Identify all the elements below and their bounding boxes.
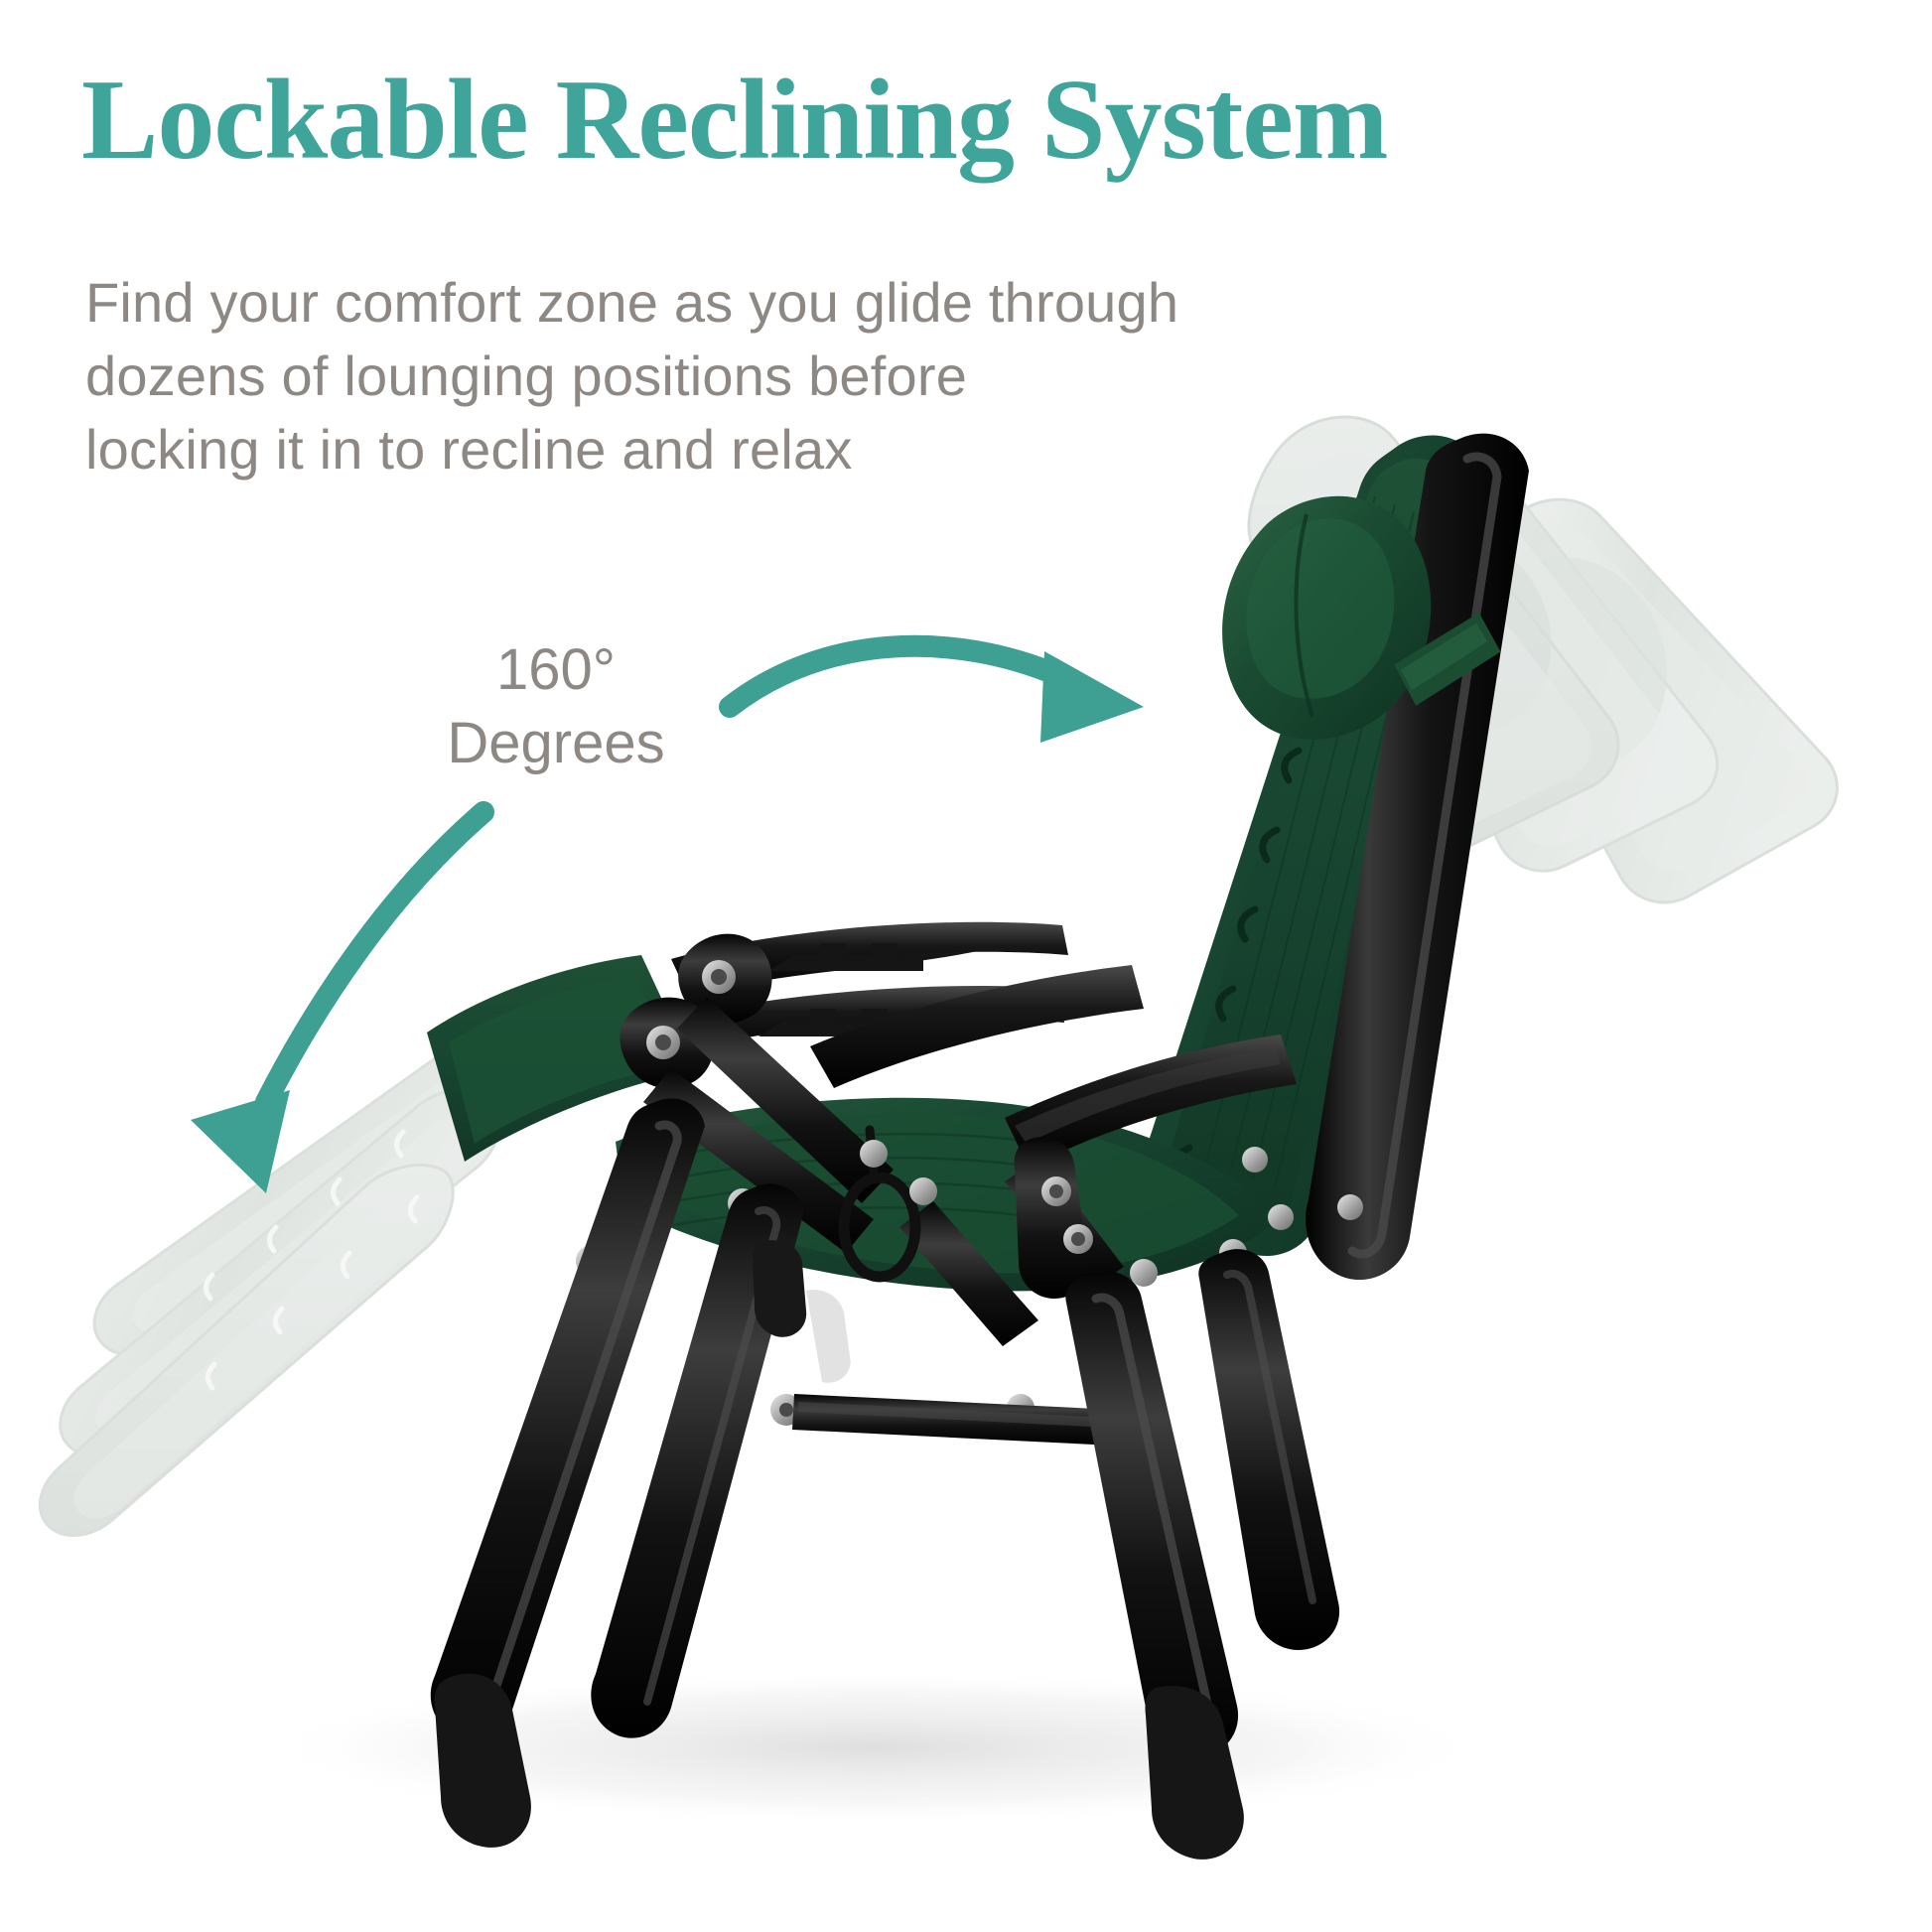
product-illustration (0, 0, 1932, 1932)
infographic-canvas: Lockable Reclining System Find your comf… (0, 0, 1932, 1932)
cross-brace (792, 1394, 1116, 1446)
ghost-recline-positions (40, 417, 1837, 1536)
recline-forward-arrow (730, 646, 1144, 743)
